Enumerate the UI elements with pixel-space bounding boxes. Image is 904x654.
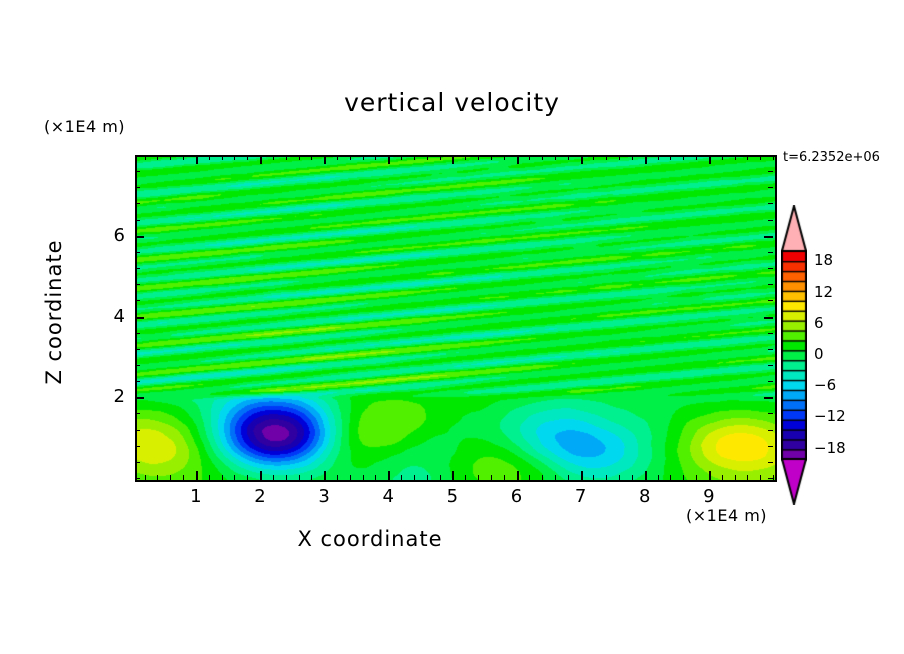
- axis-tick: [234, 475, 235, 480]
- y-tick-label: 4: [95, 306, 125, 327]
- axis-tick: [619, 155, 620, 160]
- axis-tick: [542, 475, 543, 480]
- axis-tick: [768, 333, 773, 334]
- colorbar-tick-label: 0: [814, 345, 824, 363]
- axis-tick: [555, 155, 556, 160]
- x-axis-label: X coordinate: [0, 527, 740, 551]
- x-tick-label: 4: [368, 486, 408, 507]
- axis-tick: [768, 252, 773, 253]
- axis-tick: [401, 155, 402, 160]
- axis-tick: [350, 475, 351, 480]
- x-tick-label: 2: [240, 486, 280, 507]
- axis-tick: [260, 155, 262, 164]
- axis-tick: [135, 446, 140, 447]
- axis-tick: [222, 155, 223, 160]
- axis-tick: [145, 475, 146, 480]
- axis-tick: [234, 155, 235, 160]
- axis-tick: [135, 317, 144, 319]
- axis-tick: [606, 155, 607, 160]
- axis-tick: [440, 475, 441, 480]
- axis-tick: [768, 284, 773, 285]
- colorbar-tick-label: −12: [814, 407, 846, 425]
- axis-tick: [375, 475, 376, 480]
- axis-tick: [157, 155, 158, 160]
- x-tick-label: 3: [304, 486, 344, 507]
- colorbar: [781, 205, 807, 505]
- axis-tick: [135, 333, 140, 334]
- axis-tick: [768, 155, 773, 156]
- axis-tick: [440, 155, 441, 160]
- axis-tick: [735, 475, 736, 480]
- axis-tick: [504, 155, 505, 160]
- axis-tick: [581, 471, 583, 480]
- axis-tick: [170, 155, 171, 160]
- axis-tick: [170, 475, 171, 480]
- axis-tick: [768, 187, 773, 188]
- axis-tick: [452, 471, 454, 480]
- axis-tick: [773, 155, 774, 160]
- axis-tick: [427, 475, 428, 480]
- axis-tick: [645, 471, 647, 480]
- axis-tick: [286, 155, 287, 160]
- axis-tick: [135, 268, 140, 269]
- axis-tick: [768, 478, 773, 479]
- axis-tick: [696, 155, 697, 160]
- axis-tick: [735, 155, 736, 160]
- axis-tick: [722, 475, 723, 480]
- axis-tick: [568, 475, 569, 480]
- axis-tick: [247, 155, 248, 160]
- axis-tick: [768, 171, 773, 172]
- axis-tick: [504, 475, 505, 480]
- axis-tick: [478, 155, 479, 160]
- axis-tick: [768, 349, 773, 350]
- axis-tick: [760, 155, 761, 160]
- axis-tick: [632, 475, 633, 480]
- axis-tick: [517, 155, 519, 164]
- colorbar-gradient: [781, 205, 807, 505]
- axis-tick: [517, 471, 519, 480]
- axis-tick: [311, 155, 312, 160]
- axis-tick: [768, 462, 773, 463]
- axis-tick: [722, 155, 723, 160]
- axis-tick: [135, 381, 140, 382]
- axis-tick: [135, 155, 140, 156]
- axis-tick: [683, 475, 684, 480]
- axis-tick: [581, 155, 583, 164]
- axis-tick: [670, 155, 671, 160]
- axis-tick: [299, 475, 300, 480]
- axis-tick: [414, 475, 415, 480]
- axis-tick: [260, 471, 262, 480]
- axis-tick: [324, 155, 326, 164]
- axis-tick: [593, 155, 594, 160]
- axis-tick: [491, 475, 492, 480]
- axis-tick: [768, 413, 773, 414]
- axis-tick: [593, 475, 594, 480]
- axis-tick: [465, 475, 466, 480]
- axis-tick: [135, 462, 140, 463]
- axis-tick: [529, 475, 530, 480]
- axis-tick: [696, 475, 697, 480]
- y-tick-label: 6: [95, 225, 125, 246]
- axis-tick: [773, 475, 774, 480]
- y-axis-units-label: (×1E4 m): [44, 117, 125, 136]
- colorbar-tick-label: 6: [814, 314, 824, 332]
- axis-tick: [764, 236, 773, 238]
- axis-tick: [135, 300, 140, 301]
- axis-tick: [709, 155, 711, 164]
- axis-tick: [324, 471, 326, 480]
- colorbar-tick-label: 18: [814, 251, 833, 269]
- axis-tick: [632, 155, 633, 160]
- axis-tick: [135, 171, 140, 172]
- x-axis-units-label: (×1E4 m): [686, 506, 767, 525]
- axis-tick: [401, 475, 402, 480]
- axis-tick: [299, 155, 300, 160]
- axis-tick: [768, 268, 773, 269]
- axis-tick: [135, 220, 140, 221]
- axis-tick: [209, 475, 210, 480]
- axis-tick: [670, 475, 671, 480]
- x-tick-label: 5: [432, 486, 472, 507]
- axis-tick: [768, 365, 773, 366]
- axis-tick: [273, 155, 274, 160]
- axis-tick: [135, 284, 140, 285]
- axis-tick: [363, 475, 364, 480]
- x-tick-label: 9: [689, 486, 729, 507]
- axis-tick: [768, 430, 773, 431]
- axis-tick: [768, 381, 773, 382]
- axis-tick: [388, 471, 390, 480]
- axis-tick: [135, 203, 140, 204]
- axis-tick: [135, 413, 140, 414]
- axis-tick: [768, 203, 773, 204]
- chart-title: vertical velocity: [0, 88, 904, 117]
- axis-tick: [135, 236, 144, 238]
- x-tick-label: 7: [561, 486, 601, 507]
- axis-tick: [222, 475, 223, 480]
- axis-tick: [135, 349, 140, 350]
- axis-tick: [247, 475, 248, 480]
- axis-tick: [196, 155, 198, 164]
- axis-tick: [273, 475, 274, 480]
- axis-tick: [683, 155, 684, 160]
- colorbar-tick-label: 12: [814, 283, 833, 301]
- axis-tick: [465, 155, 466, 160]
- timestamp-annotation: t=6.2352e+06: [783, 150, 880, 165]
- contour-plot-area: [135, 155, 777, 482]
- axis-tick: [135, 252, 140, 253]
- axis-tick: [135, 365, 140, 366]
- axis-tick: [747, 475, 748, 480]
- axis-tick: [135, 187, 140, 188]
- axis-tick: [337, 155, 338, 160]
- y-tick-label: 2: [95, 386, 125, 407]
- axis-tick: [478, 475, 479, 480]
- x-tick-label: 1: [176, 486, 216, 507]
- axis-tick: [145, 155, 146, 160]
- axis-tick: [183, 475, 184, 480]
- axis-tick: [768, 446, 773, 447]
- axis-tick: [747, 155, 748, 160]
- x-tick-label: 8: [625, 486, 665, 507]
- axis-tick: [135, 397, 144, 399]
- axis-tick: [452, 155, 454, 164]
- axis-tick: [568, 155, 569, 160]
- axis-tick: [350, 155, 351, 160]
- axis-tick: [286, 475, 287, 480]
- axis-tick: [709, 471, 711, 480]
- axis-tick: [311, 475, 312, 480]
- axis-tick: [337, 475, 338, 480]
- axis-tick: [209, 155, 210, 160]
- x-tick-label: 6: [497, 486, 537, 507]
- axis-tick: [645, 155, 647, 164]
- axis-tick: [491, 155, 492, 160]
- axis-tick: [135, 478, 140, 479]
- axis-tick: [555, 475, 556, 480]
- axis-tick: [375, 155, 376, 160]
- axis-tick: [135, 430, 140, 431]
- axis-tick: [658, 155, 659, 160]
- y-axis-label: Z coordinate: [42, 192, 66, 432]
- axis-tick: [764, 317, 773, 319]
- axis-tick: [414, 155, 415, 160]
- axis-tick: [157, 475, 158, 480]
- colorbar-tick-label: −18: [814, 439, 846, 457]
- axis-tick: [764, 397, 773, 399]
- axis-tick: [183, 155, 184, 160]
- axis-tick: [768, 220, 773, 221]
- vertical-velocity-field: [137, 157, 775, 480]
- axis-tick: [196, 471, 198, 480]
- colorbar-tick-label: −6: [814, 376, 836, 394]
- axis-tick: [542, 155, 543, 160]
- figure-canvas: vertical velocity (×1E4 m) (×1E4 m) t=6.…: [0, 0, 904, 654]
- axis-tick: [658, 475, 659, 480]
- axis-tick: [388, 155, 390, 164]
- axis-tick: [768, 300, 773, 301]
- axis-tick: [363, 155, 364, 160]
- axis-tick: [619, 475, 620, 480]
- axis-tick: [606, 475, 607, 480]
- axis-tick: [760, 475, 761, 480]
- axis-tick: [427, 155, 428, 160]
- axis-tick: [529, 155, 530, 160]
